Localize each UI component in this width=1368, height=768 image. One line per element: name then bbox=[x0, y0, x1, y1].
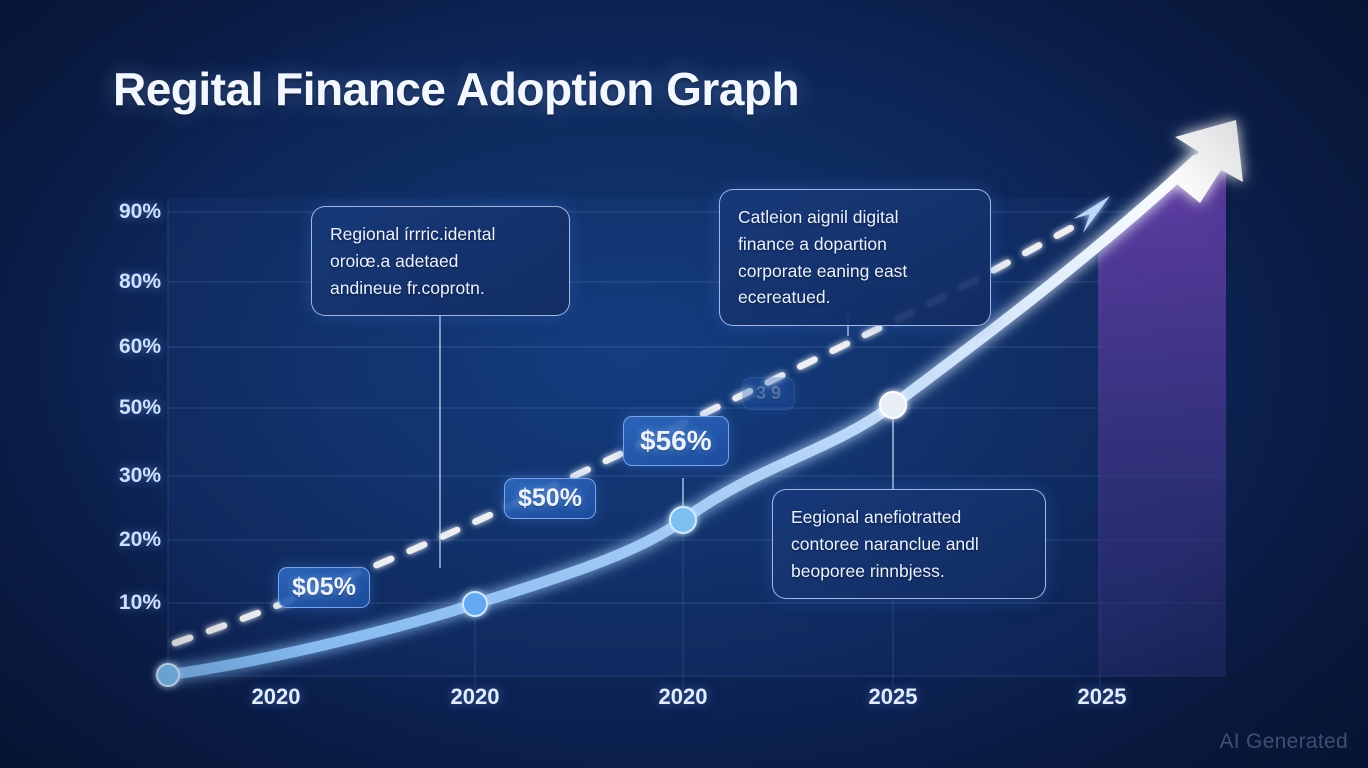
x-tick-2: 2020 bbox=[659, 684, 708, 710]
annotation-left-line-1: Regional írrric.idental bbox=[330, 221, 551, 248]
y-axis: 90% 80% 60% 50% 30% 20% 10% bbox=[95, 0, 161, 768]
x-tick-1: 2020 bbox=[451, 684, 500, 710]
annotation-top-right-line-3: corporate eaning east bbox=[738, 258, 972, 285]
annotation-bottom-right-line-3: beoporee rinnbjess. bbox=[791, 558, 1027, 585]
chart-canvas: Regital Finance Adoption Graph 90% 80% 6… bbox=[0, 0, 1368, 768]
y-tick-6: 10% bbox=[119, 591, 161, 615]
ai-generated-watermark: AI Generated bbox=[1219, 730, 1348, 754]
annotation-top-right: Catleion aignil digital finance a dopart… bbox=[719, 189, 991, 326]
annotation-top-right-line-4: ecereatued. bbox=[738, 284, 972, 311]
y-tick-4: 30% bbox=[119, 464, 161, 488]
data-label-pill-2: $50% bbox=[504, 478, 596, 519]
annotation-bottom-right-line-1: Eegional anefiotratted bbox=[791, 504, 1027, 531]
annotation-bottom-right: Eegional anefiotratted contoree naranclu… bbox=[772, 489, 1046, 599]
annotation-bottom-right-line-2: contoree naranclue andl bbox=[791, 531, 1027, 558]
y-tick-5: 20% bbox=[119, 528, 161, 552]
y-tick-1: 80% bbox=[119, 270, 161, 294]
data-label-pill-3: $56% bbox=[623, 416, 729, 466]
y-tick-2: 60% bbox=[119, 335, 161, 359]
annotation-left-line-3: andineue fr.coprotn. bbox=[330, 275, 551, 302]
annotation-left-line-2: oroiœ.a adetaed bbox=[330, 248, 551, 275]
page-title: Regital Finance Adoption Graph bbox=[113, 62, 799, 116]
annotation-top-right-line-2: finance a dopartion bbox=[738, 231, 972, 258]
x-tick-4: 2025 bbox=[1078, 684, 1127, 710]
x-tick-0: 2020 bbox=[252, 684, 301, 710]
annotation-left: Regional írrric.idental oroiœ.a adetaed … bbox=[311, 206, 570, 316]
y-tick-0: 90% bbox=[119, 200, 161, 224]
y-tick-3: 50% bbox=[119, 396, 161, 420]
annotation-top-right-line-1: Catleion aignil digital bbox=[738, 204, 972, 231]
data-label-pill-4: 3 9 bbox=[742, 377, 795, 410]
data-label-pill-1: $05% bbox=[278, 567, 370, 608]
x-tick-3: 2025 bbox=[869, 684, 918, 710]
